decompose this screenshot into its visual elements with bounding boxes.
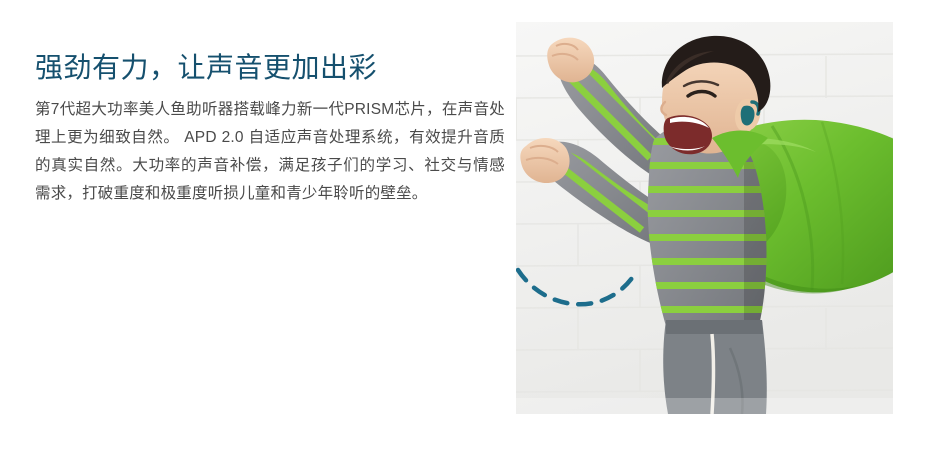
boy-with-cape-illustration bbox=[516, 22, 893, 414]
body-paragraph: 第7代超大功率美人鱼助听器搭载峰力新一代PRISM芯片，在声音处理上更为细致自然… bbox=[35, 96, 505, 208]
page-title: 强劲有力，让声音更加出彩 bbox=[35, 48, 505, 88]
text-block: 强劲有力，让声音更加出彩 第7代超大功率美人鱼助听器搭载峰力新一代PRISM芯片… bbox=[35, 48, 505, 208]
hero-photo bbox=[516, 22, 893, 414]
